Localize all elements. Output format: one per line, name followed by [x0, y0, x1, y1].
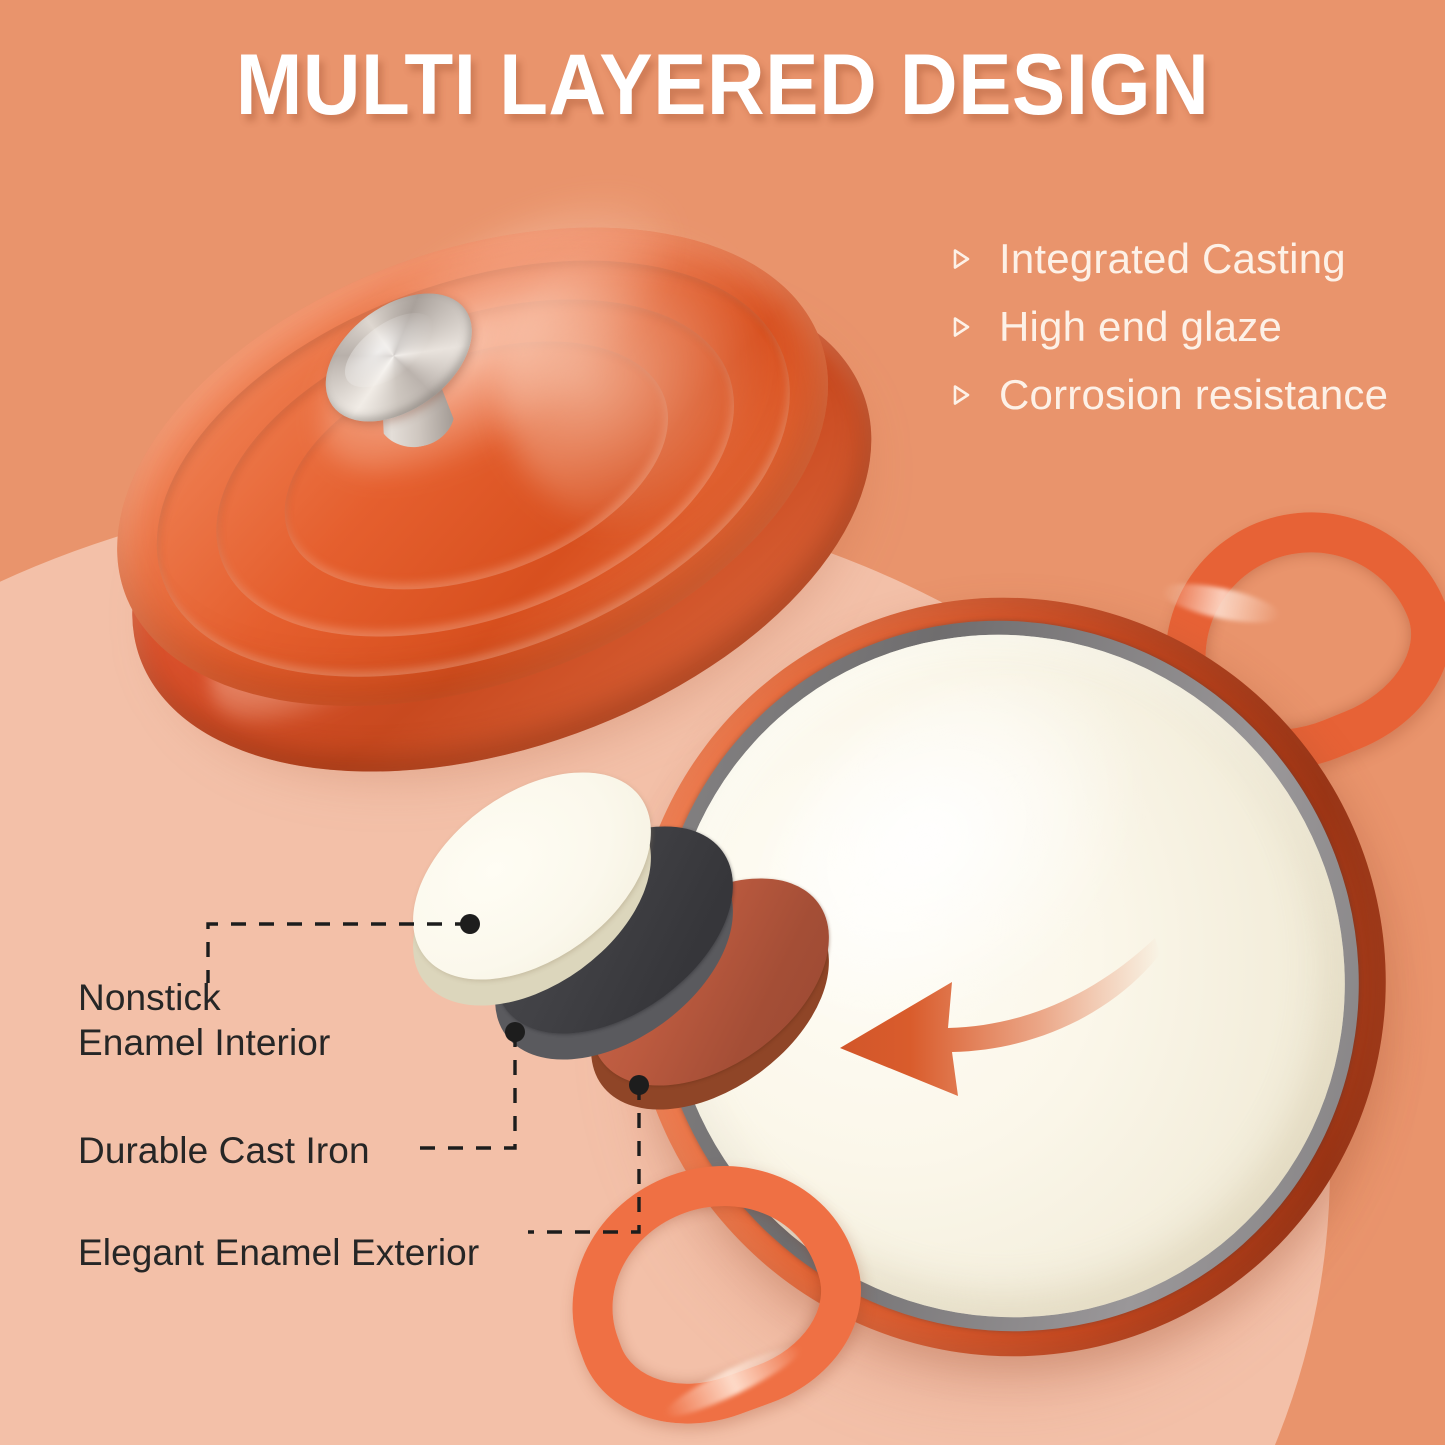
feature-item-corrosion-resistance: Corrosion resistance [952, 364, 1422, 426]
triangle-right-outline-icon [952, 384, 971, 406]
feature-label: Integrated Casting [999, 238, 1346, 280]
callout-label-cast-iron: Durable Cast Iron [78, 1128, 370, 1173]
triangle-right-outline-icon [952, 316, 971, 338]
infographic-canvas: MULTI LAYERED DESIGN Integrated Casting … [0, 0, 1445, 1445]
handle-highlight [660, 1337, 806, 1426]
feature-item-high-end-glaze: High end glaze [952, 296, 1422, 358]
callout-label-nonstick: Nonstick Enamel Interior [78, 975, 330, 1065]
feature-item-integrated-casting: Integrated Casting [952, 228, 1422, 290]
handle-highlight [1159, 576, 1283, 630]
triangle-right-outline-icon [952, 248, 971, 270]
assembly-arrow-icon [800, 920, 1160, 1100]
feature-label: High end glaze [999, 306, 1282, 348]
feature-label: Corrosion resistance [999, 374, 1388, 416]
feature-list: Integrated Casting High end glaze Corros… [952, 228, 1422, 432]
callout-label-exterior: Elegant Enamel Exterior [78, 1230, 479, 1275]
